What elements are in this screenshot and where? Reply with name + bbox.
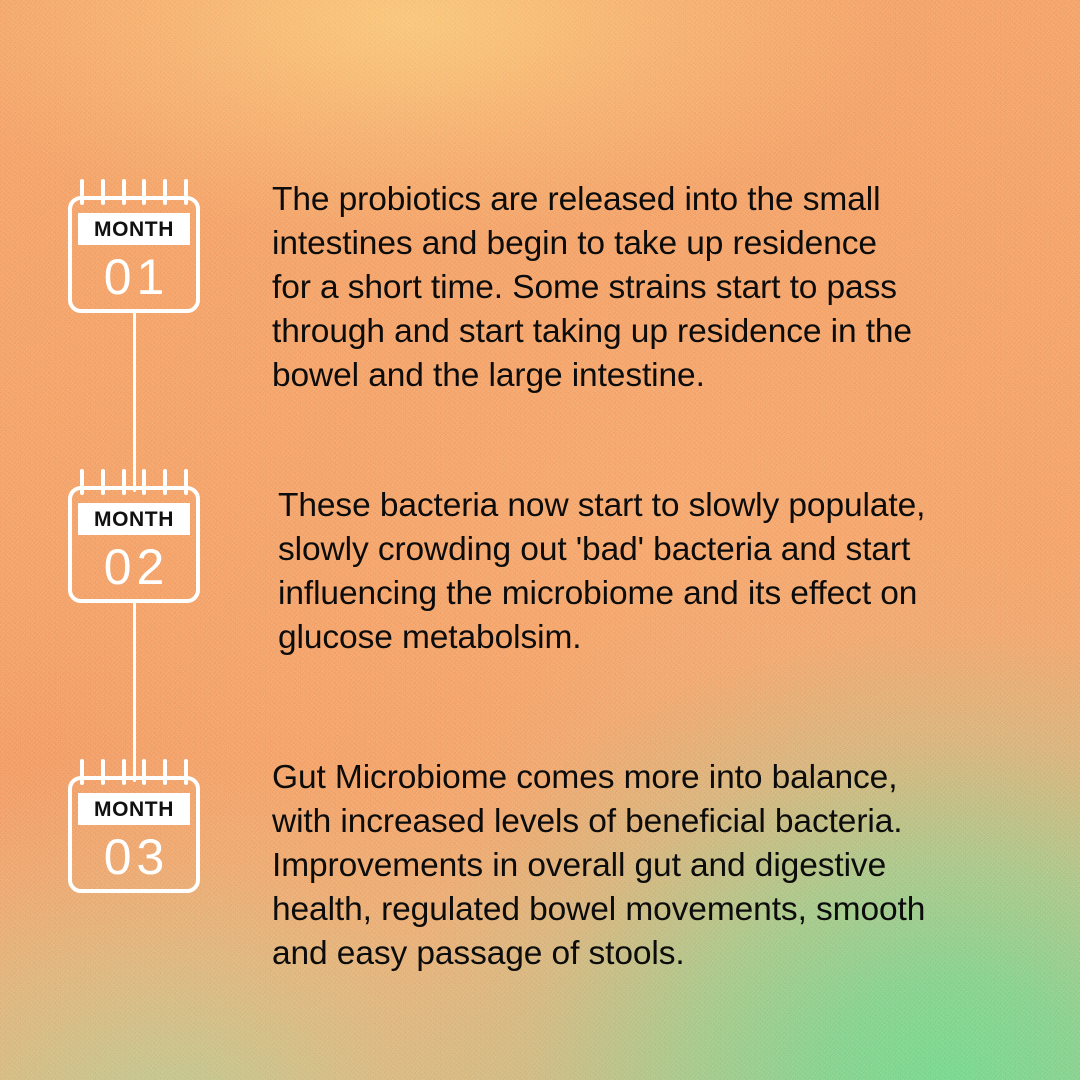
calendar-ring [122, 759, 126, 785]
calendar-month-number: 02 [68, 538, 200, 596]
step-description-month-02: These bacteria now start to slowly popul… [278, 484, 1018, 660]
calendar-month-number: 03 [68, 828, 200, 886]
timeline-connector-1-2 [133, 312, 136, 492]
calendar-ring [101, 469, 105, 495]
calendar-icon-month-01: MONTH 01 [68, 196, 200, 313]
calendar-ring [80, 469, 84, 495]
timeline-connector-2-3 [133, 602, 136, 782]
step-description-month-03: Gut Microbiome comes more into balance, … [272, 756, 1012, 976]
step-description-month-01: The probiotics are released into the sma… [272, 178, 1012, 398]
calendar-ring [142, 759, 146, 785]
calendar-month-label: MONTH [94, 219, 174, 240]
calendar-month-label: MONTH [94, 509, 174, 530]
calendar-ring [80, 759, 84, 785]
calendar-month-number: 01 [68, 248, 200, 306]
calendar-month-band: MONTH [78, 503, 190, 535]
calendar-ring [163, 759, 167, 785]
calendar-ring [184, 759, 188, 785]
calendar-icon-month-02: MONTH 02 [68, 486, 200, 603]
calendar-month-band: MONTH [78, 213, 190, 245]
calendar-ring [163, 179, 167, 205]
calendar-ring [142, 179, 146, 205]
calendar-ring [80, 179, 84, 205]
calendar-rings [80, 179, 188, 205]
calendar-ring [184, 469, 188, 495]
calendar-rings [80, 469, 188, 495]
calendar-ring [142, 469, 146, 495]
calendar-ring [122, 469, 126, 495]
calendar-icon-month-03: MONTH 03 [68, 776, 200, 893]
calendar-ring [122, 179, 126, 205]
calendar-month-band: MONTH [78, 793, 190, 825]
calendar-month-label: MONTH [94, 799, 174, 820]
infographic-canvas: MONTH 01 The probiotics are released int… [0, 0, 1080, 1080]
calendar-rings [80, 759, 188, 785]
calendar-ring [101, 759, 105, 785]
calendar-ring [101, 179, 105, 205]
timeline: MONTH 01 The probiotics are released int… [0, 0, 1080, 1080]
calendar-ring [184, 179, 188, 205]
calendar-ring [163, 469, 167, 495]
